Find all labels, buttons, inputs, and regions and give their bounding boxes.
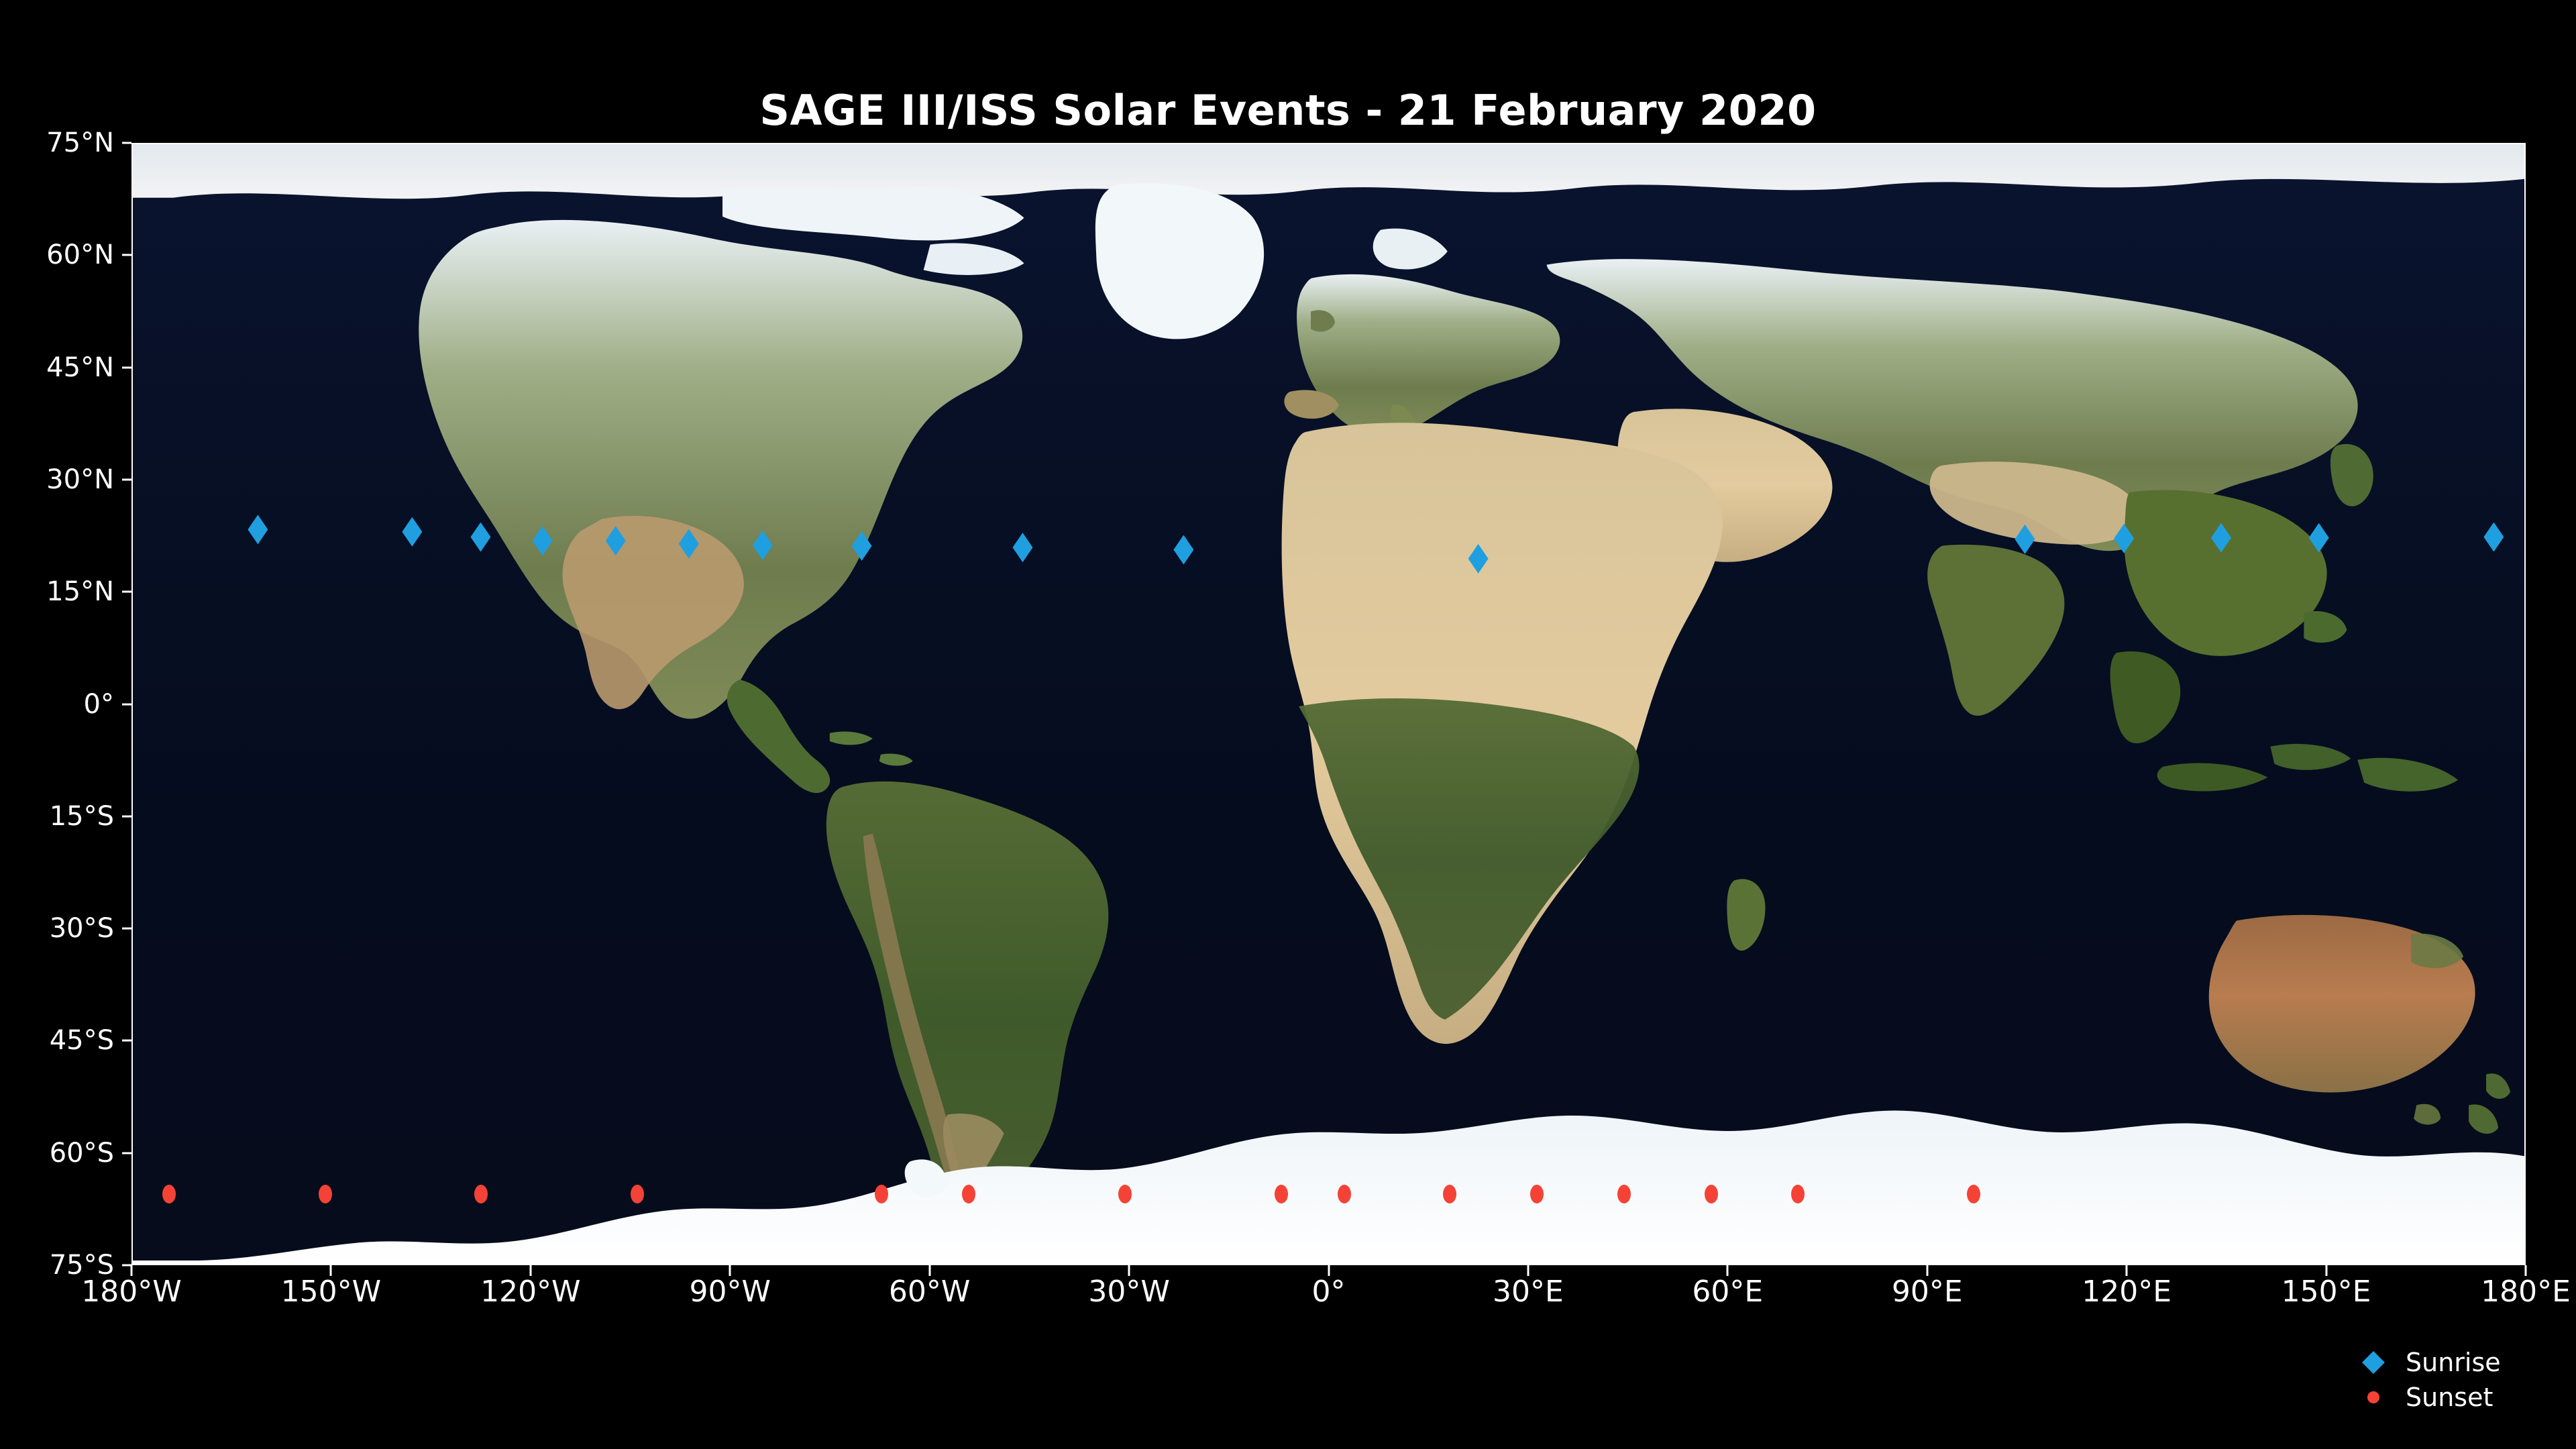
x-tick-label-6: 0°: [1242, 1275, 1416, 1309]
y-tick-mark-7: [122, 928, 131, 930]
y-tick-mark-1: [122, 254, 131, 256]
diamond-marker-icon: [2355, 1354, 2392, 1371]
x-tick-mark-10: [2126, 1265, 2128, 1276]
legend: Sunrise Sunset: [2355, 1345, 2563, 1415]
y-tick-mark-5: [122, 703, 131, 705]
x-tick-mark-1: [330, 1265, 332, 1276]
y-tick-label-8: 45°S: [0, 1025, 114, 1056]
legend-item-sunrise[interactable]: Sunrise: [2355, 1345, 2563, 1380]
x-tick-label-8: 60°E: [1640, 1275, 1815, 1309]
x-tick-mark-12: [2525, 1265, 2527, 1276]
x-tick-mark-4: [928, 1265, 930, 1276]
y-tick-label-9: 60°S: [0, 1138, 114, 1169]
x-tick-label-11: 150°E: [2239, 1275, 2414, 1309]
x-tick-mark-8: [1727, 1265, 1729, 1276]
x-tick-label-2: 120°W: [443, 1275, 618, 1309]
circle-marker-icon: [2355, 1391, 2392, 1403]
y-tick-mark-8: [122, 1040, 131, 1042]
y-tick-mark-6: [122, 815, 131, 817]
x-tick-label-12: 180°E: [2438, 1275, 2576, 1309]
page-title: SAGE III/ISS Solar Events - 21 February …: [0, 86, 2576, 135]
x-tick-mark-7: [1527, 1265, 1529, 1276]
y-tick-label-4: 15°N: [0, 576, 114, 607]
legend-label-sunrise: Sunrise: [2406, 1348, 2501, 1377]
x-tick-label-9: 90°E: [1840, 1275, 2015, 1309]
x-tick-label-0: 180°W: [44, 1275, 219, 1309]
y-tick-label-3: 30°N: [0, 464, 114, 495]
x-tick-label-4: 60°W: [843, 1275, 1017, 1309]
x-tick-mark-6: [1328, 1265, 1330, 1276]
x-tick-label-5: 30°W: [1042, 1275, 1216, 1309]
y-tick-label-7: 30°S: [0, 913, 114, 944]
x-tick-label-10: 120°E: [2039, 1275, 2214, 1309]
x-tick-mark-5: [1128, 1265, 1130, 1276]
legend-item-sunset[interactable]: Sunset: [2355, 1380, 2563, 1415]
y-tick-label-1: 60°N: [0, 239, 114, 270]
x-tick-mark-0: [131, 1265, 133, 1276]
y-tick-label-5: 0°: [0, 689, 114, 720]
y-tick-mark-2: [122, 366, 131, 368]
x-tick-mark-2: [529, 1265, 531, 1276]
x-tick-label-7: 30°E: [1441, 1275, 1615, 1309]
y-tick-mark-0: [122, 142, 131, 144]
world-basemap: [133, 144, 2524, 1264]
x-tick-label-1: 150°W: [244, 1275, 418, 1309]
y-tick-label-6: 15°S: [0, 801, 114, 832]
map-plot-area[interactable]: [131, 143, 2526, 1265]
x-tick-mark-3: [729, 1265, 731, 1276]
x-tick-label-3: 90°W: [643, 1275, 817, 1309]
y-tick-mark-4: [122, 591, 131, 593]
y-tick-mark-3: [122, 478, 131, 480]
x-tick-mark-11: [2325, 1265, 2327, 1276]
y-tick-label-2: 45°N: [0, 352, 114, 383]
y-tick-mark-9: [122, 1152, 131, 1154]
x-tick-mark-9: [1926, 1265, 1928, 1276]
legend-label-sunset: Sunset: [2406, 1383, 2493, 1412]
y-tick-label-0: 75°N: [0, 127, 114, 158]
figure-canvas: SAGE III/ISS Solar Events - 21 February …: [0, 0, 2576, 1449]
